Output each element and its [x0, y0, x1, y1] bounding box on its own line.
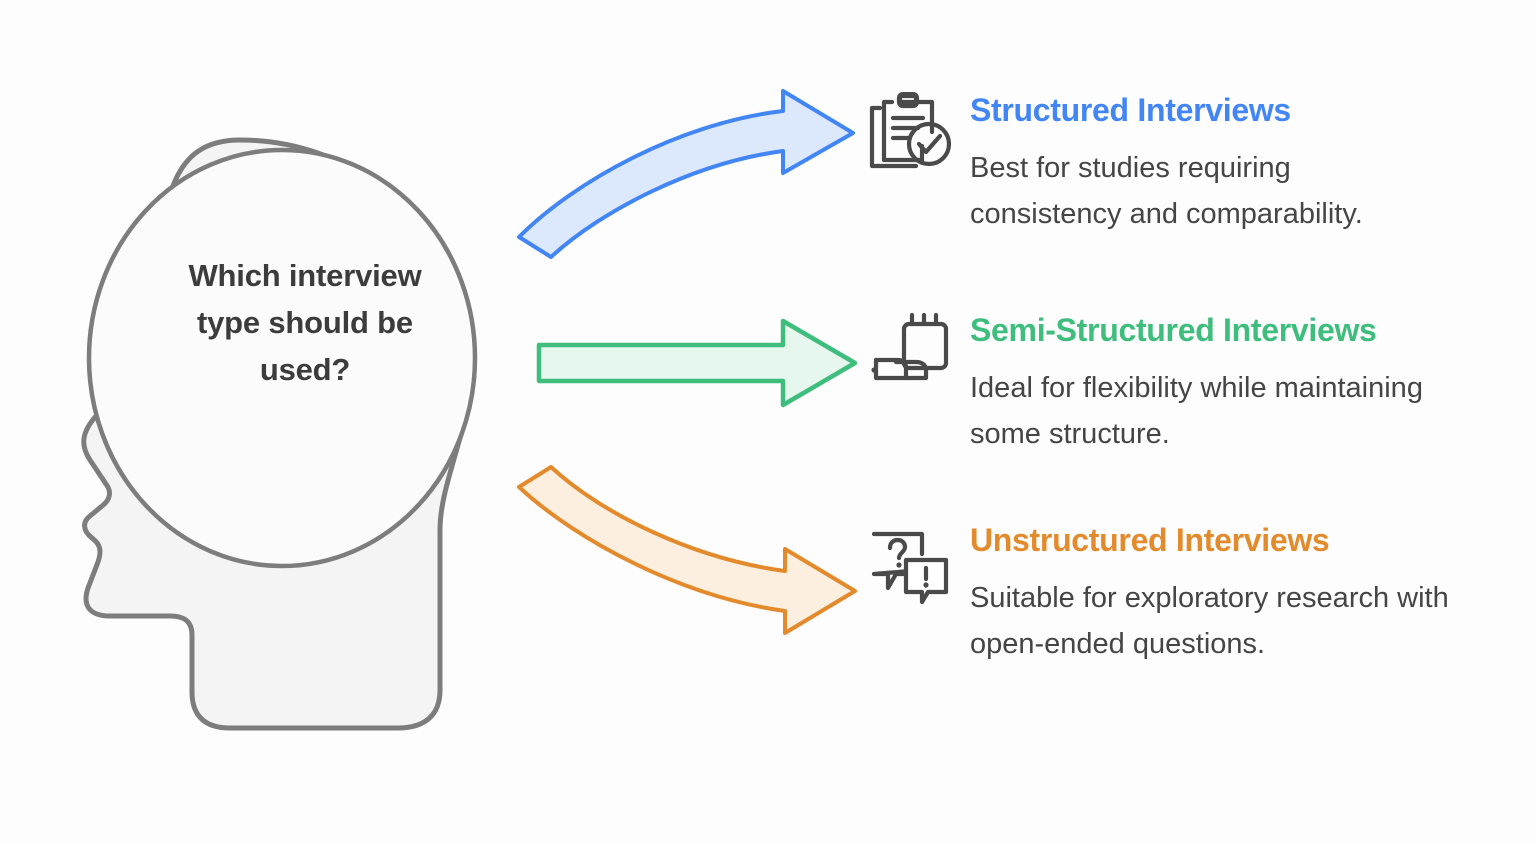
branch-structured-description: Best for studies requiring consistency a…	[970, 146, 1440, 238]
branch-unstructured-title: Unstructured Interviews	[970, 522, 1530, 560]
branch-structured-body: Structured Interviews Best for studies r…	[970, 92, 1530, 237]
branch-semi-structured-title: Semi-Structured Interviews	[970, 312, 1530, 350]
notepad-hand-icon	[866, 312, 954, 394]
arrow-to-unstructured	[505, 465, 875, 640]
branch-semi-structured-description: Ideal for flexibility while maintaining …	[970, 366, 1490, 458]
branch-unstructured-description: Suitable for exploratory research with o…	[970, 576, 1460, 668]
arrow-to-structured	[505, 85, 875, 260]
branch-structured-title: Structured Interviews	[970, 92, 1530, 130]
head-profile-silhouette	[40, 130, 510, 750]
branch-unstructured-body: Unstructured Interviews Suitable for exp…	[970, 522, 1530, 667]
question-exclamation-chat-icon	[866, 522, 954, 604]
diagram-canvas: Which interview type should be used?	[0, 0, 1536, 842]
clipboard-check-icon	[866, 92, 954, 174]
branch-semi-structured-body: Semi-Structured Interviews Ideal for fle…	[970, 312, 1530, 457]
arrow-to-semi-structured	[533, 313, 863, 413]
central-question-text: Which interview type should be used?	[160, 252, 450, 393]
